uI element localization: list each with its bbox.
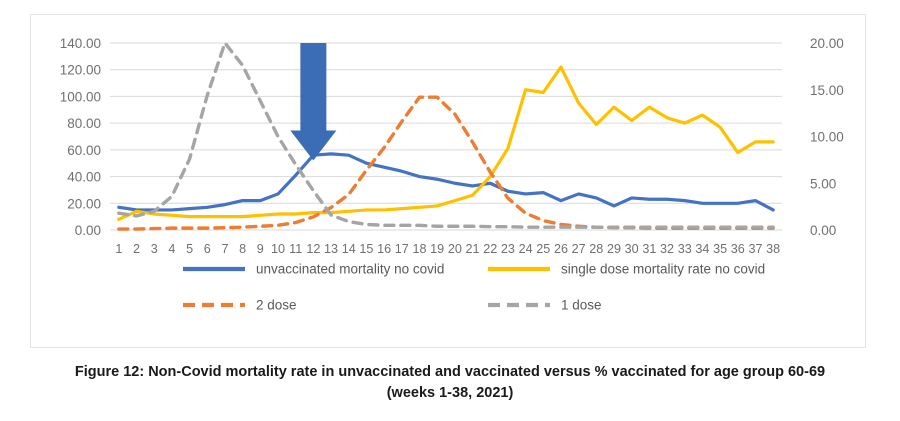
series-line-unvaccinated-mortality-no-covid	[119, 154, 773, 210]
y2-axis-tick-20.00: 20.00	[810, 36, 844, 51]
figure-caption-line-2: (weeks 1-38, 2021)	[0, 383, 900, 404]
x-axis-tick-32: 32	[660, 242, 674, 256]
x-axis-tick-7: 7	[221, 242, 228, 256]
legend-label-single-dose-mortality-rate-no-covid: single dose mortality rate no covid	[561, 262, 765, 277]
x-axis-tick-20: 20	[448, 242, 462, 256]
x-axis-tick-15: 15	[359, 242, 373, 256]
x-axis-tick-29: 29	[607, 242, 621, 256]
x-axis-tick-33: 33	[678, 242, 692, 256]
figure-container: 0.0020.0040.0060.0080.00100.00120.00140.…	[0, 0, 900, 421]
y-axis-tick-120.00: 120.00	[60, 63, 101, 78]
legend-label-2-dose: 2 dose	[256, 298, 297, 313]
figure-caption: Figure 12: Non-Covid mortality rate in u…	[0, 362, 900, 404]
x-axis-tick-36: 36	[731, 242, 745, 256]
x-axis-tick-30: 30	[625, 242, 639, 256]
y-axis-tick-100.00: 100.00	[60, 89, 101, 104]
x-axis-tick-34: 34	[695, 242, 709, 256]
x-axis-tick-5: 5	[186, 242, 193, 256]
series-line-single-dose-mortality-rate-no-covid	[119, 67, 773, 219]
y2-axis-tick-5.00: 5.00	[810, 176, 836, 191]
x-axis-tick-26: 26	[554, 242, 568, 256]
legend-label-1-dose: 1 dose	[561, 298, 602, 313]
chart-plot-area: 0.0020.0040.0060.0080.00100.00120.00140.…	[30, 14, 866, 348]
x-axis-tick-8: 8	[239, 242, 246, 256]
x-axis-tick-24: 24	[519, 242, 533, 256]
x-axis-tick-13: 13	[324, 242, 338, 256]
x-axis-tick-35: 35	[713, 242, 727, 256]
x-axis-tick-9: 9	[257, 242, 264, 256]
y2-axis-tick-10.00: 10.00	[810, 130, 844, 145]
x-axis-tick-18: 18	[412, 242, 426, 256]
y-axis-tick-0.00: 0.00	[75, 223, 101, 238]
y-axis-tick-20.00: 20.00	[67, 196, 101, 211]
x-axis-tick-31: 31	[642, 242, 656, 256]
x-axis-tick-4: 4	[168, 242, 175, 256]
x-axis-tick-28: 28	[589, 242, 603, 256]
x-axis-tick-21: 21	[466, 242, 480, 256]
x-axis-tick-37: 37	[748, 242, 762, 256]
x-axis-tick-1: 1	[115, 242, 122, 256]
legend-label-unvaccinated-mortality-no-covid: unvaccinated mortality no covid	[256, 262, 444, 277]
x-axis-tick-19: 19	[430, 242, 444, 256]
x-axis-tick-16: 16	[377, 242, 391, 256]
x-axis-tick-25: 25	[536, 242, 550, 256]
x-axis-tick-11: 11	[289, 242, 302, 256]
y-axis-tick-140.00: 140.00	[60, 36, 101, 51]
x-axis-tick-14: 14	[342, 242, 356, 256]
mortality-line-chart: 0.0020.0040.0060.0080.00100.00120.00140.…	[31, 15, 865, 347]
y2-axis-tick-0.00: 0.00	[810, 223, 836, 238]
x-axis-tick-22: 22	[483, 242, 497, 256]
x-axis-tick-6: 6	[204, 242, 211, 256]
y-axis-tick-60.00: 60.00	[67, 143, 101, 158]
x-axis-tick-23: 23	[501, 242, 515, 256]
x-axis-tick-3: 3	[151, 242, 158, 256]
figure-caption-line-1: Figure 12: Non-Covid mortality rate in u…	[0, 362, 900, 383]
y-axis-tick-80.00: 80.00	[67, 116, 101, 131]
series-line-2-dose	[119, 97, 773, 229]
x-axis-tick-17: 17	[395, 242, 409, 256]
down-arrow-annotation	[290, 43, 336, 161]
x-axis-tick-10: 10	[271, 242, 285, 256]
x-axis-tick-27: 27	[572, 242, 586, 256]
y-axis-tick-40.00: 40.00	[67, 170, 101, 185]
x-axis-tick-12: 12	[306, 242, 320, 256]
x-axis-tick-38: 38	[766, 242, 780, 256]
y2-axis-tick-15.00: 15.00	[810, 83, 844, 98]
x-axis-tick-2: 2	[133, 242, 140, 256]
